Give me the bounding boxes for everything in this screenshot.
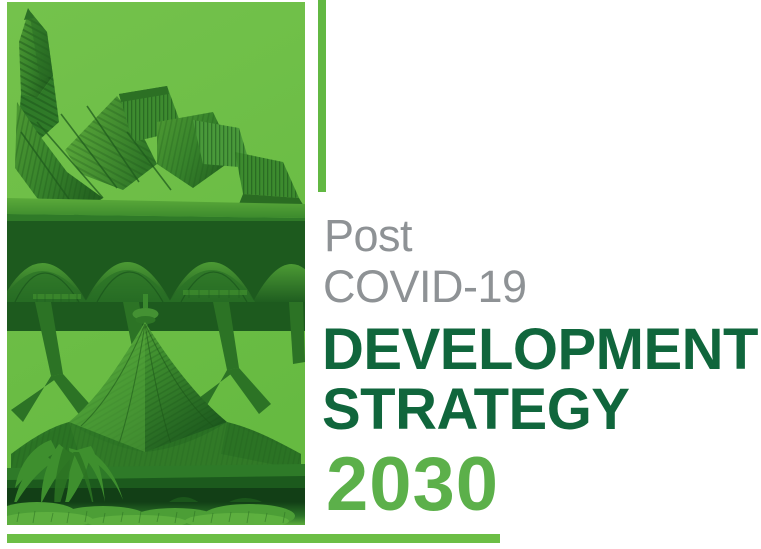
headline-year: 2030 [322, 446, 752, 524]
vertical-accent-bar [318, 0, 326, 192]
eyebrow-line-covid: COVID-19 [322, 261, 752, 312]
headline-line-strategy: STRATEGY [322, 380, 752, 440]
bottom-accent-bar [7, 534, 500, 543]
eyebrow-line-post: Post [322, 210, 752, 261]
building-photo-artwork [7, 2, 305, 525]
cover-page: Post COVID-19 DEVELOPMENT STRATEGY 2030 [0, 0, 761, 549]
building-photo [7, 2, 305, 525]
headline-line-development: DEVELOPMENT [322, 320, 752, 380]
cover-title-block: Post COVID-19 DEVELOPMENT STRATEGY 2030 [322, 210, 752, 524]
